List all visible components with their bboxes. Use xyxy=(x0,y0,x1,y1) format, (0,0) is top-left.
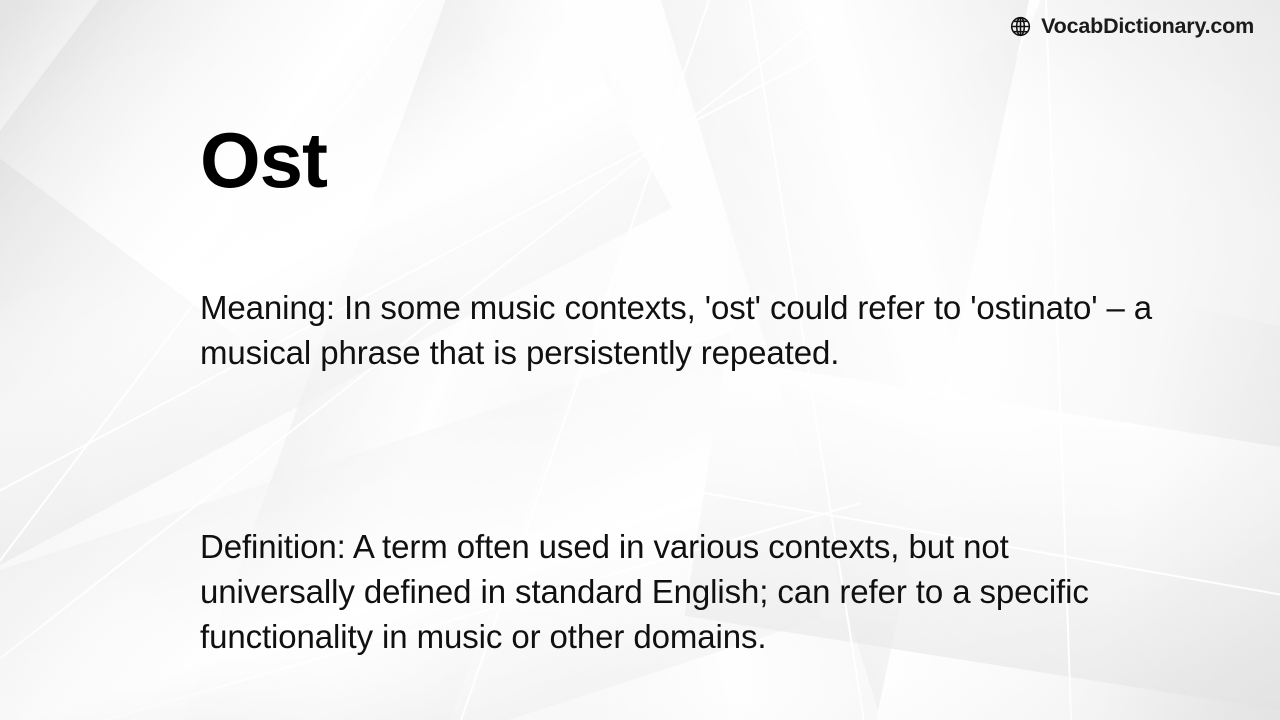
meaning-paragraph: Meaning: In some music contexts, 'ost' c… xyxy=(200,285,1160,375)
brand-watermark[interactable]: VocabDictionary.com xyxy=(1009,14,1254,39)
vocabulary-card-slide: VocabDictionary.com Ost Meaning: In some… xyxy=(0,0,1280,720)
globe-icon xyxy=(1009,15,1032,38)
definition-paragraph: Definition: A term often used in various… xyxy=(200,524,1160,659)
word-title: Ost xyxy=(200,121,327,199)
brand-name: VocabDictionary.com xyxy=(1041,14,1254,39)
card-content: Ost Meaning: In some music contexts, 'os… xyxy=(200,0,1180,720)
